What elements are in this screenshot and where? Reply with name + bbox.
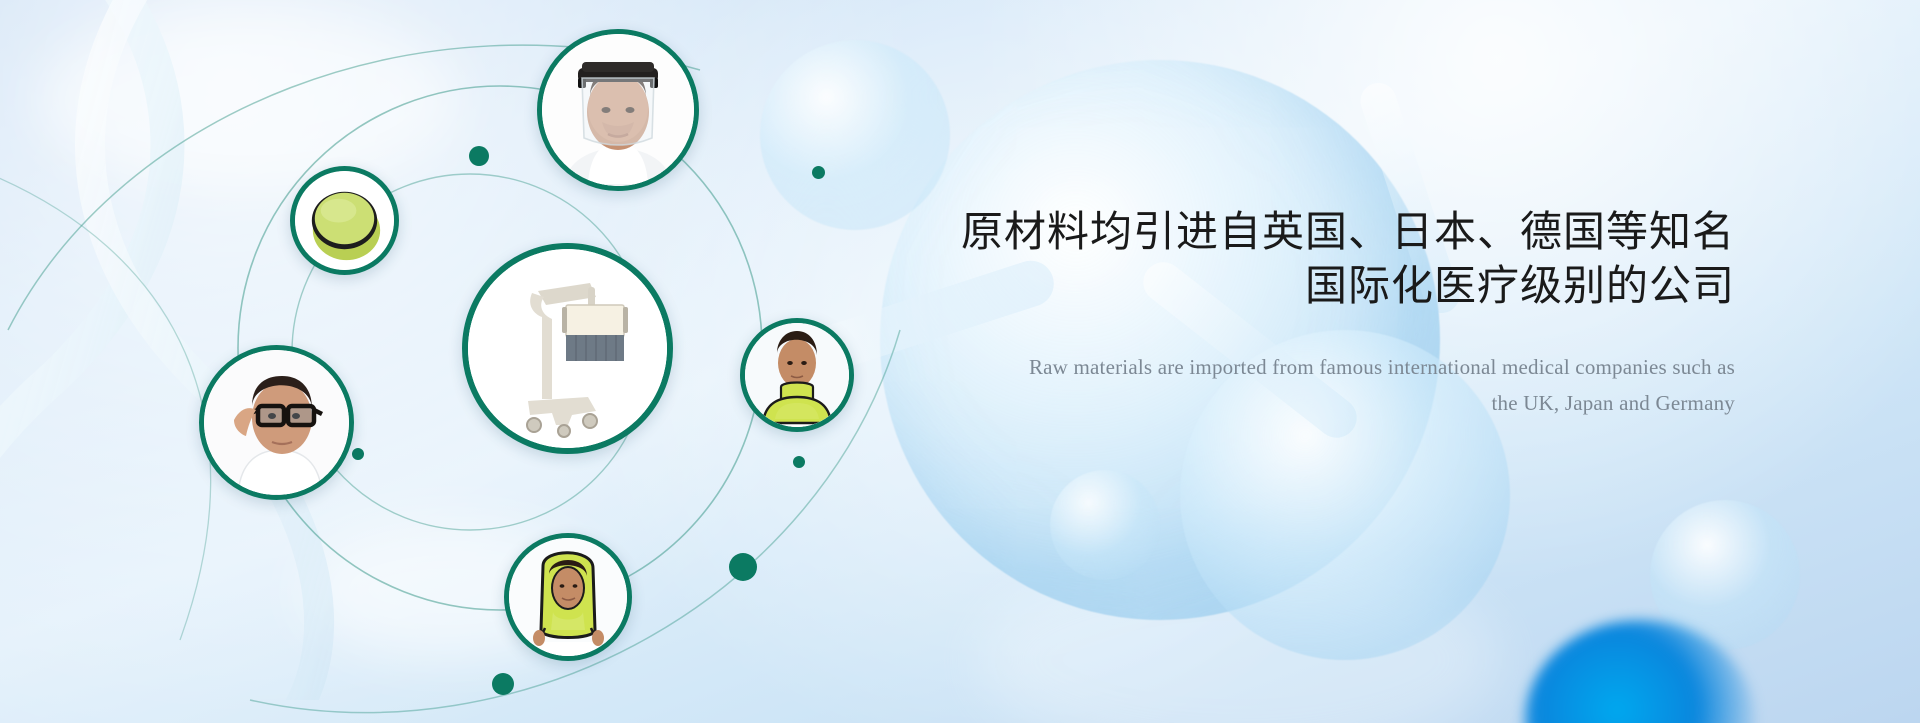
subtitle-line-1: Raw materials are imported from famous i…	[955, 349, 1735, 386]
orbit-dot	[812, 166, 825, 179]
orbit-dot	[469, 146, 489, 166]
lead-hood-photo[interactable]	[504, 533, 632, 661]
orbit-dot	[729, 553, 757, 581]
thyroid-collar-photo[interactable]	[740, 318, 854, 432]
orbit-dot	[492, 673, 514, 695]
orbit-dot	[793, 456, 805, 468]
page-title: 原材料均引进自英国、日本、德国等知名 国际化医疗级别的公司	[955, 205, 1735, 313]
mobile-x-ray-barrier-photo[interactable]	[462, 243, 673, 454]
subtitle-line-2: the UK, Japan and Germany	[955, 385, 1735, 422]
hero-subtitle: Raw materials are imported from famous i…	[955, 349, 1735, 423]
lead-glasses-photo[interactable]	[199, 345, 354, 500]
headline-line-2: 国际化医疗级别的公司	[955, 259, 1735, 313]
face-shield-photo[interactable]	[537, 29, 699, 191]
molecule-sphere-small	[1050, 470, 1160, 580]
orbit-dot	[352, 448, 364, 460]
hero-text-block: 原材料均引进自英国、日本、德国等知名 国际化医疗级别的公司 Raw materi…	[955, 205, 1735, 422]
headline-line-1: 原材料均引进自英国、日本、德国等知名	[961, 208, 1735, 255]
hero-banner: 原材料均引进自英国、日本、德国等知名 国际化医疗级别的公司 Raw materi…	[0, 0, 1920, 723]
lead-cap-photo[interactable]	[290, 166, 399, 275]
